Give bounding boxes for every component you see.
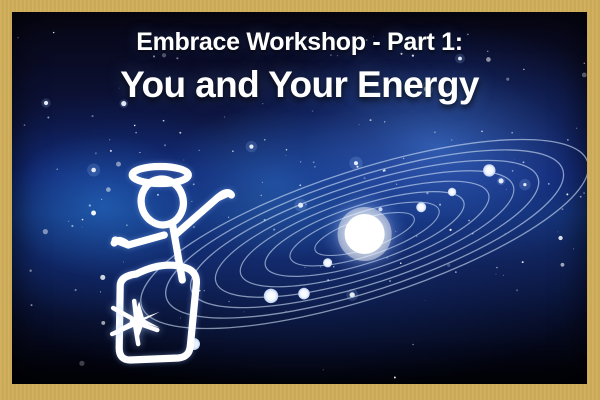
angel-stick-figure xyxy=(12,12,587,384)
poster-frame: Embrace Workshop - Part 1: You and Your … xyxy=(0,0,600,400)
space-background: Embrace Workshop - Part 1: You and Your … xyxy=(12,12,587,384)
